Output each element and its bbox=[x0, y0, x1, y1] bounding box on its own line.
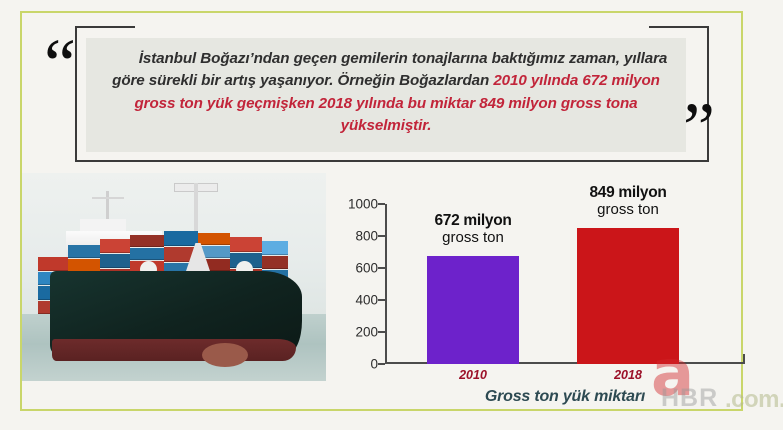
photo-container bbox=[38, 257, 68, 271]
photo-container bbox=[164, 231, 198, 246]
photo-container bbox=[100, 239, 130, 253]
y-tick-800 bbox=[378, 235, 385, 237]
open-quote-icon: “ bbox=[44, 28, 76, 100]
bar-chart: 02004006008001000 20102018 Gross ton yük… bbox=[340, 196, 760, 412]
x-axis-endcap bbox=[743, 354, 745, 364]
quote-line-3-highlight: gross ton yük geçmişken 2018 yılında bu … bbox=[135, 95, 638, 112]
x-tick-label-2018: 2018 bbox=[588, 368, 668, 382]
bar-2010 bbox=[427, 256, 519, 364]
quote-bracket-top-right bbox=[649, 26, 709, 28]
photo-radar-crossarm bbox=[92, 197, 124, 199]
quote-line-2-plain: göre sürekli bir artış yaşanıyor. Örneği… bbox=[112, 72, 493, 89]
photo-container bbox=[100, 254, 130, 268]
photo-container bbox=[130, 248, 164, 260]
bar-value-label-2010: 672 milyongross ton bbox=[393, 212, 553, 246]
y-tick-0 bbox=[378, 363, 385, 365]
photo-container bbox=[130, 235, 164, 247]
photo-hull-boottop bbox=[52, 339, 296, 361]
bar-2018 bbox=[577, 228, 679, 364]
bar-value-label-2018: 849 milyongross ton bbox=[548, 184, 708, 218]
x-tick-label-2010: 2010 bbox=[433, 368, 513, 382]
photo-container bbox=[198, 233, 230, 245]
quote-panel: İstanbul Boğazı’ndan geçen gemilerin ton… bbox=[86, 38, 686, 152]
infographic-canvas: “ ” İstanbul Boğazı’ndan geçen gemilerin… bbox=[0, 0, 783, 430]
photo-container bbox=[262, 256, 288, 270]
y-tick-label-1000: 1000 bbox=[340, 197, 378, 212]
quote-line-2-highlight: 2010 yılında 672 milyon bbox=[493, 72, 660, 89]
quote-line-4-highlight: yükselmiştir. bbox=[100, 115, 672, 137]
photo-container bbox=[262, 241, 288, 255]
photo-container bbox=[230, 237, 262, 252]
photo-container bbox=[68, 245, 100, 258]
y-tick-label-400: 400 bbox=[340, 293, 378, 308]
y-tick-label-800: 800 bbox=[340, 229, 378, 244]
y-tick-400 bbox=[378, 299, 385, 301]
container-ship-photo bbox=[22, 173, 326, 381]
quote-text: İstanbul Boğazı’ndan geçen gemilerin ton… bbox=[100, 48, 672, 137]
bar-value-amount-2010: 672 milyon bbox=[393, 212, 553, 230]
y-tick-label-600: 600 bbox=[340, 261, 378, 276]
quote-line-1: İstanbul Boğazı’ndan geçen gemilerin ton… bbox=[100, 48, 672, 70]
photo-bulbous-bow bbox=[202, 343, 248, 367]
y-tick-label-0: 0 bbox=[340, 357, 378, 372]
bar-value-unit-2010: gross ton bbox=[393, 229, 553, 246]
bar-value-unit-2018: gross ton bbox=[548, 201, 708, 218]
bar-value-amount-2018: 849 milyon bbox=[548, 184, 708, 202]
close-quote-icon: ” bbox=[683, 92, 715, 164]
y-tick-200 bbox=[378, 331, 385, 333]
y-tick-600 bbox=[378, 267, 385, 269]
x-axis-title: Gross ton yük miktarı bbox=[400, 388, 730, 406]
quote-bracket-top-left bbox=[75, 26, 135, 28]
y-tick-1000 bbox=[378, 203, 385, 205]
y-tick-label-200: 200 bbox=[340, 325, 378, 340]
